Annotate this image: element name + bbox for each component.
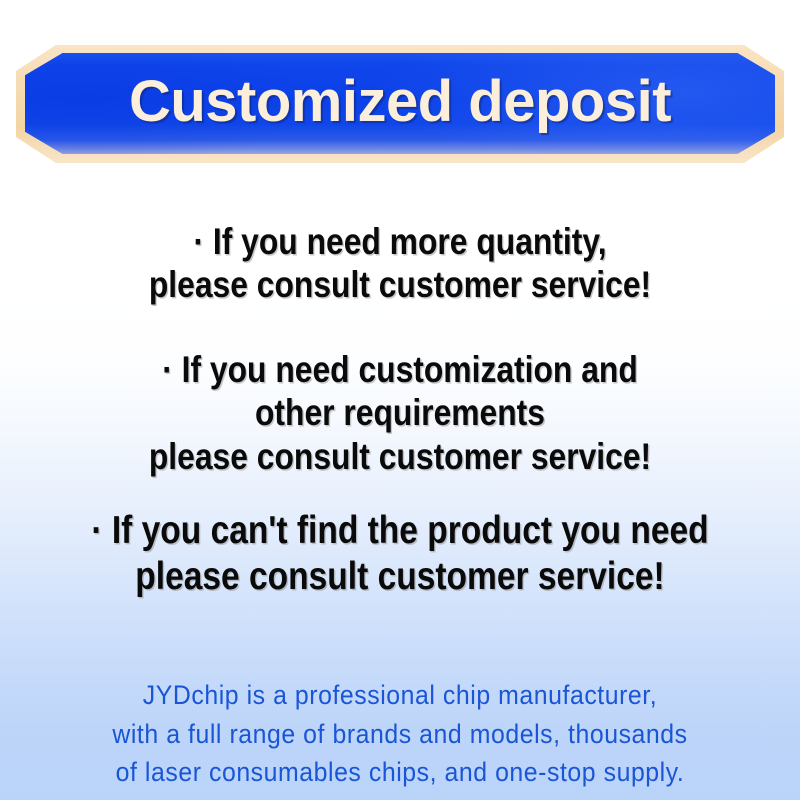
text-block-customization: · If you need customization and other re… bbox=[56, 348, 744, 478]
text-line: · If you need more quantity, bbox=[56, 220, 744, 263]
footer-line: JYDchip is a professional chip manufactu… bbox=[32, 676, 768, 715]
title-banner: Customized deposit bbox=[16, 45, 784, 163]
text-line: · If you need customization and bbox=[56, 348, 744, 391]
text-line: please consult customer service! bbox=[56, 435, 744, 478]
text-block-cant-find-product: · If you can't find the product you need… bbox=[56, 508, 744, 599]
text-block-more-quantity: · If you need more quantity, please cons… bbox=[56, 220, 744, 307]
text-line: please consult customer service! bbox=[56, 263, 744, 306]
footer-line: with a full range of brands and models, … bbox=[32, 715, 768, 754]
text-line: · If you can't find the product you need bbox=[56, 508, 744, 554]
footer-line: of laser consumables chips, and one-stop… bbox=[32, 753, 768, 792]
text-line: other requirements bbox=[56, 391, 744, 434]
page-title: Customized deposit bbox=[16, 45, 784, 163]
company-description: JYDchip is a professional chip manufactu… bbox=[32, 676, 768, 792]
promo-banner-page: Customized deposit · If you need more qu… bbox=[0, 0, 800, 800]
text-line: please consult customer service! bbox=[56, 554, 744, 600]
